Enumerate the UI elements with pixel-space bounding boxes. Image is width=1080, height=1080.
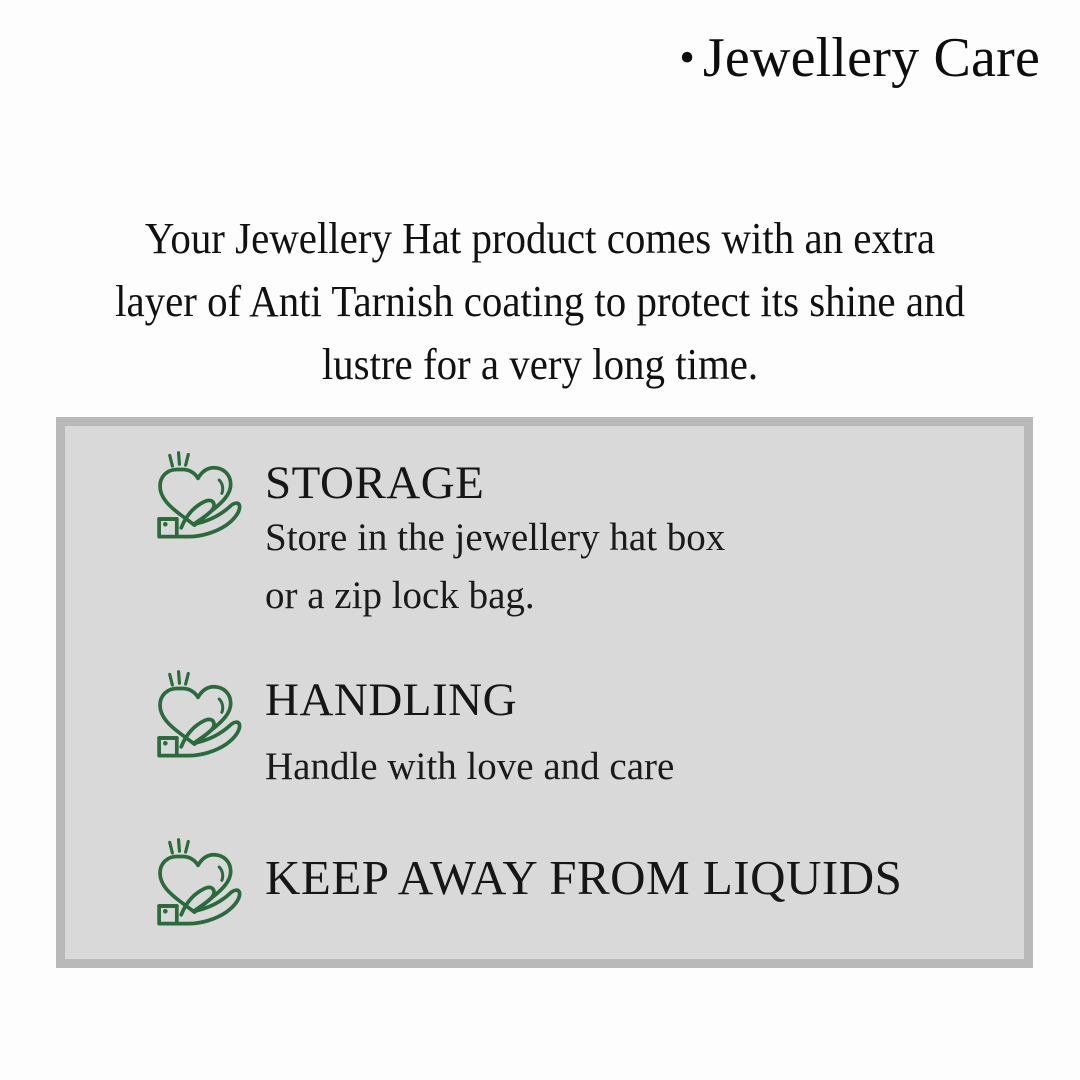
- care-item-handling: HANDLING Handle with love and care: [145, 662, 674, 796]
- care-item-text: HANDLING Handle with love and care: [265, 662, 674, 796]
- care-item-desc-line2: or a zip lock bag.: [265, 567, 725, 625]
- hand-holding-heart-icon: [145, 443, 251, 549]
- page-title: •Jewellery Care: [0, 26, 1040, 90]
- care-instructions-panel: STORAGE Store in the jewellery hat box o…: [56, 417, 1033, 968]
- care-item-storage: STORAGE Store in the jewellery hat box o…: [145, 443, 725, 625]
- care-item-title: KEEP AWAY FROM LIQUIDS: [265, 852, 902, 904]
- intro-paragraph: Your Jewellery Hat product comes with an…: [103, 207, 977, 396]
- page-title-text: Jewellery Care: [703, 27, 1040, 89]
- bullet-icon: •: [679, 33, 703, 82]
- care-item-title: HANDLING: [265, 674, 674, 726]
- care-item-title: STORAGE: [265, 457, 725, 509]
- care-instructions-list: STORAGE Store in the jewellery hat box o…: [65, 426, 1024, 959]
- hand-holding-heart-icon: [145, 662, 251, 768]
- care-item-keep-away-from-liquids: KEEP AWAY FROM LIQUIDS: [145, 830, 902, 936]
- care-item-desc-line1: Handle with love and care: [265, 738, 674, 796]
- care-item-desc-line1: Store in the jewellery hat box: [265, 509, 725, 567]
- jewellery-care-page: { "heading": { "bullet": "\u2022", "text…: [0, 0, 1080, 1080]
- care-item-text: STORAGE Store in the jewellery hat box o…: [265, 443, 725, 625]
- hand-holding-heart-icon: [145, 830, 251, 936]
- care-item-text: KEEP AWAY FROM LIQUIDS: [265, 830, 902, 904]
